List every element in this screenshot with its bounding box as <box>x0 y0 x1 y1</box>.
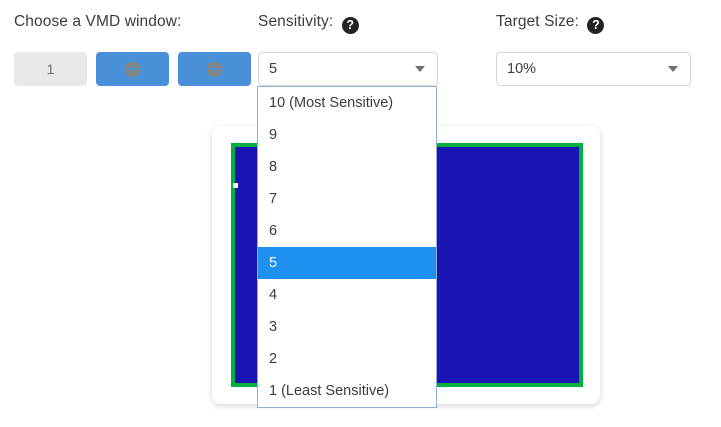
sensitivity-option[interactable]: 10 (Most Sensitive) <box>258 87 436 119</box>
plus-circle-icon <box>125 62 140 77</box>
frame-resize-handle[interactable] <box>233 183 238 188</box>
target-size-label-text: Target Size: <box>496 13 579 30</box>
help-question-icon[interactable]: ? <box>587 17 604 34</box>
vmd-window-1-label: 1 <box>47 61 55 77</box>
sensitivity-option[interactable]: 7 <box>258 183 436 215</box>
vmd-window-label: Choose a VMD window: <box>14 0 246 32</box>
vmd-add-window-3-button[interactable] <box>178 52 251 86</box>
sensitivity-option[interactable]: 4 <box>258 279 436 311</box>
target-size-selected-value: 10% <box>497 53 668 85</box>
chevron-down-icon <box>415 66 425 72</box>
sensitivity-option[interactable]: 6 <box>258 215 436 247</box>
plus-circle-icon <box>207 62 222 77</box>
target-size-select[interactable]: 10% <box>496 52 691 86</box>
sensitivity-label-text: Sensitivity: <box>258 13 333 30</box>
vmd-window-group: Choose a VMD window: <box>14 0 246 32</box>
vmd-window-buttons: 1 <box>14 52 251 86</box>
sensitivity-option[interactable]: 3 <box>258 311 436 343</box>
vmd-add-window-2-button[interactable] <box>96 52 169 86</box>
sensitivity-option[interactable]: 2 <box>258 343 436 375</box>
help-question-icon[interactable]: ? <box>342 17 359 34</box>
chevron-down-icon <box>668 66 678 72</box>
sensitivity-option[interactable]: 9 <box>258 119 436 151</box>
sensitivity-label: Sensitivity: ? <box>258 0 438 34</box>
sensitivity-group: Sensitivity: ? <box>258 0 438 34</box>
sensitivity-option[interactable]: 8 <box>258 151 436 183</box>
sensitivity-select[interactable]: 5 <box>258 52 438 86</box>
sensitivity-option[interactable]: 5 <box>258 247 436 279</box>
sensitivity-selected-value: 5 <box>259 53 415 85</box>
target-size-label: Target Size: ? <box>496 0 691 34</box>
sensitivity-dropdown-list[interactable]: 10 (Most Sensitive)987654321 (Least Sens… <box>257 86 437 408</box>
sensitivity-option[interactable]: 1 (Least Sensitive) <box>258 375 436 407</box>
target-size-group: Target Size: ? <box>496 0 691 34</box>
vmd-window-1-button[interactable]: 1 <box>14 52 87 86</box>
